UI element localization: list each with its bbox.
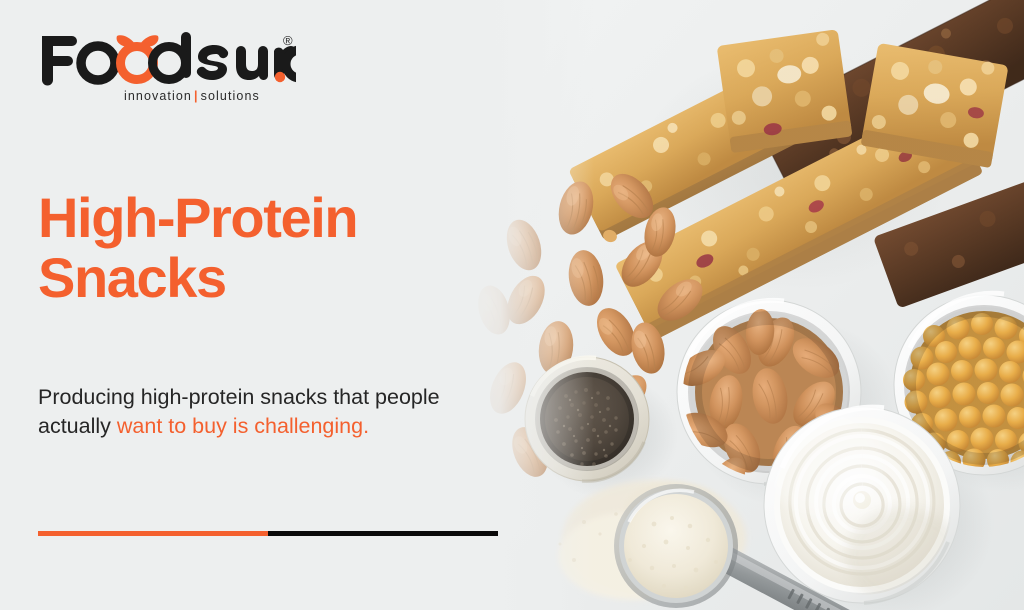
tagline-solutions: solutions (201, 89, 260, 103)
tagline-separator: | (192, 89, 201, 103)
page-title: High-Protein Snacks (38, 188, 508, 308)
food-photo-illustration (464, 0, 1024, 610)
foodsure-logo[interactable]: ® innovation|solutions (36, 30, 296, 108)
registered-trademark-icon: ® (283, 34, 293, 47)
tagline-innovation: innovation (124, 89, 192, 103)
logo-dot (275, 72, 285, 82)
logo-wordmark-svg (36, 30, 296, 86)
subtitle-text: Producing high-protein snacks that peopl… (38, 383, 458, 440)
divider-orange-segment (38, 531, 268, 536)
subtitle-accent: want to buy is challenging. (117, 414, 369, 438)
divider-rule (38, 531, 498, 536)
left-content-column: ® innovation|solutions High-Protein Snac… (0, 0, 520, 610)
logo-wordmark (36, 30, 296, 84)
headline-line-1: High-Protein (38, 188, 508, 248)
headline-line-2: Snacks (38, 248, 508, 308)
hero-food-photo (464, 0, 1024, 610)
slide-canvas: ® innovation|solutions High-Protein Snac… (0, 0, 1024, 610)
logo-tagline: innovation|solutions (124, 89, 260, 103)
divider-black-segment (268, 531, 498, 536)
